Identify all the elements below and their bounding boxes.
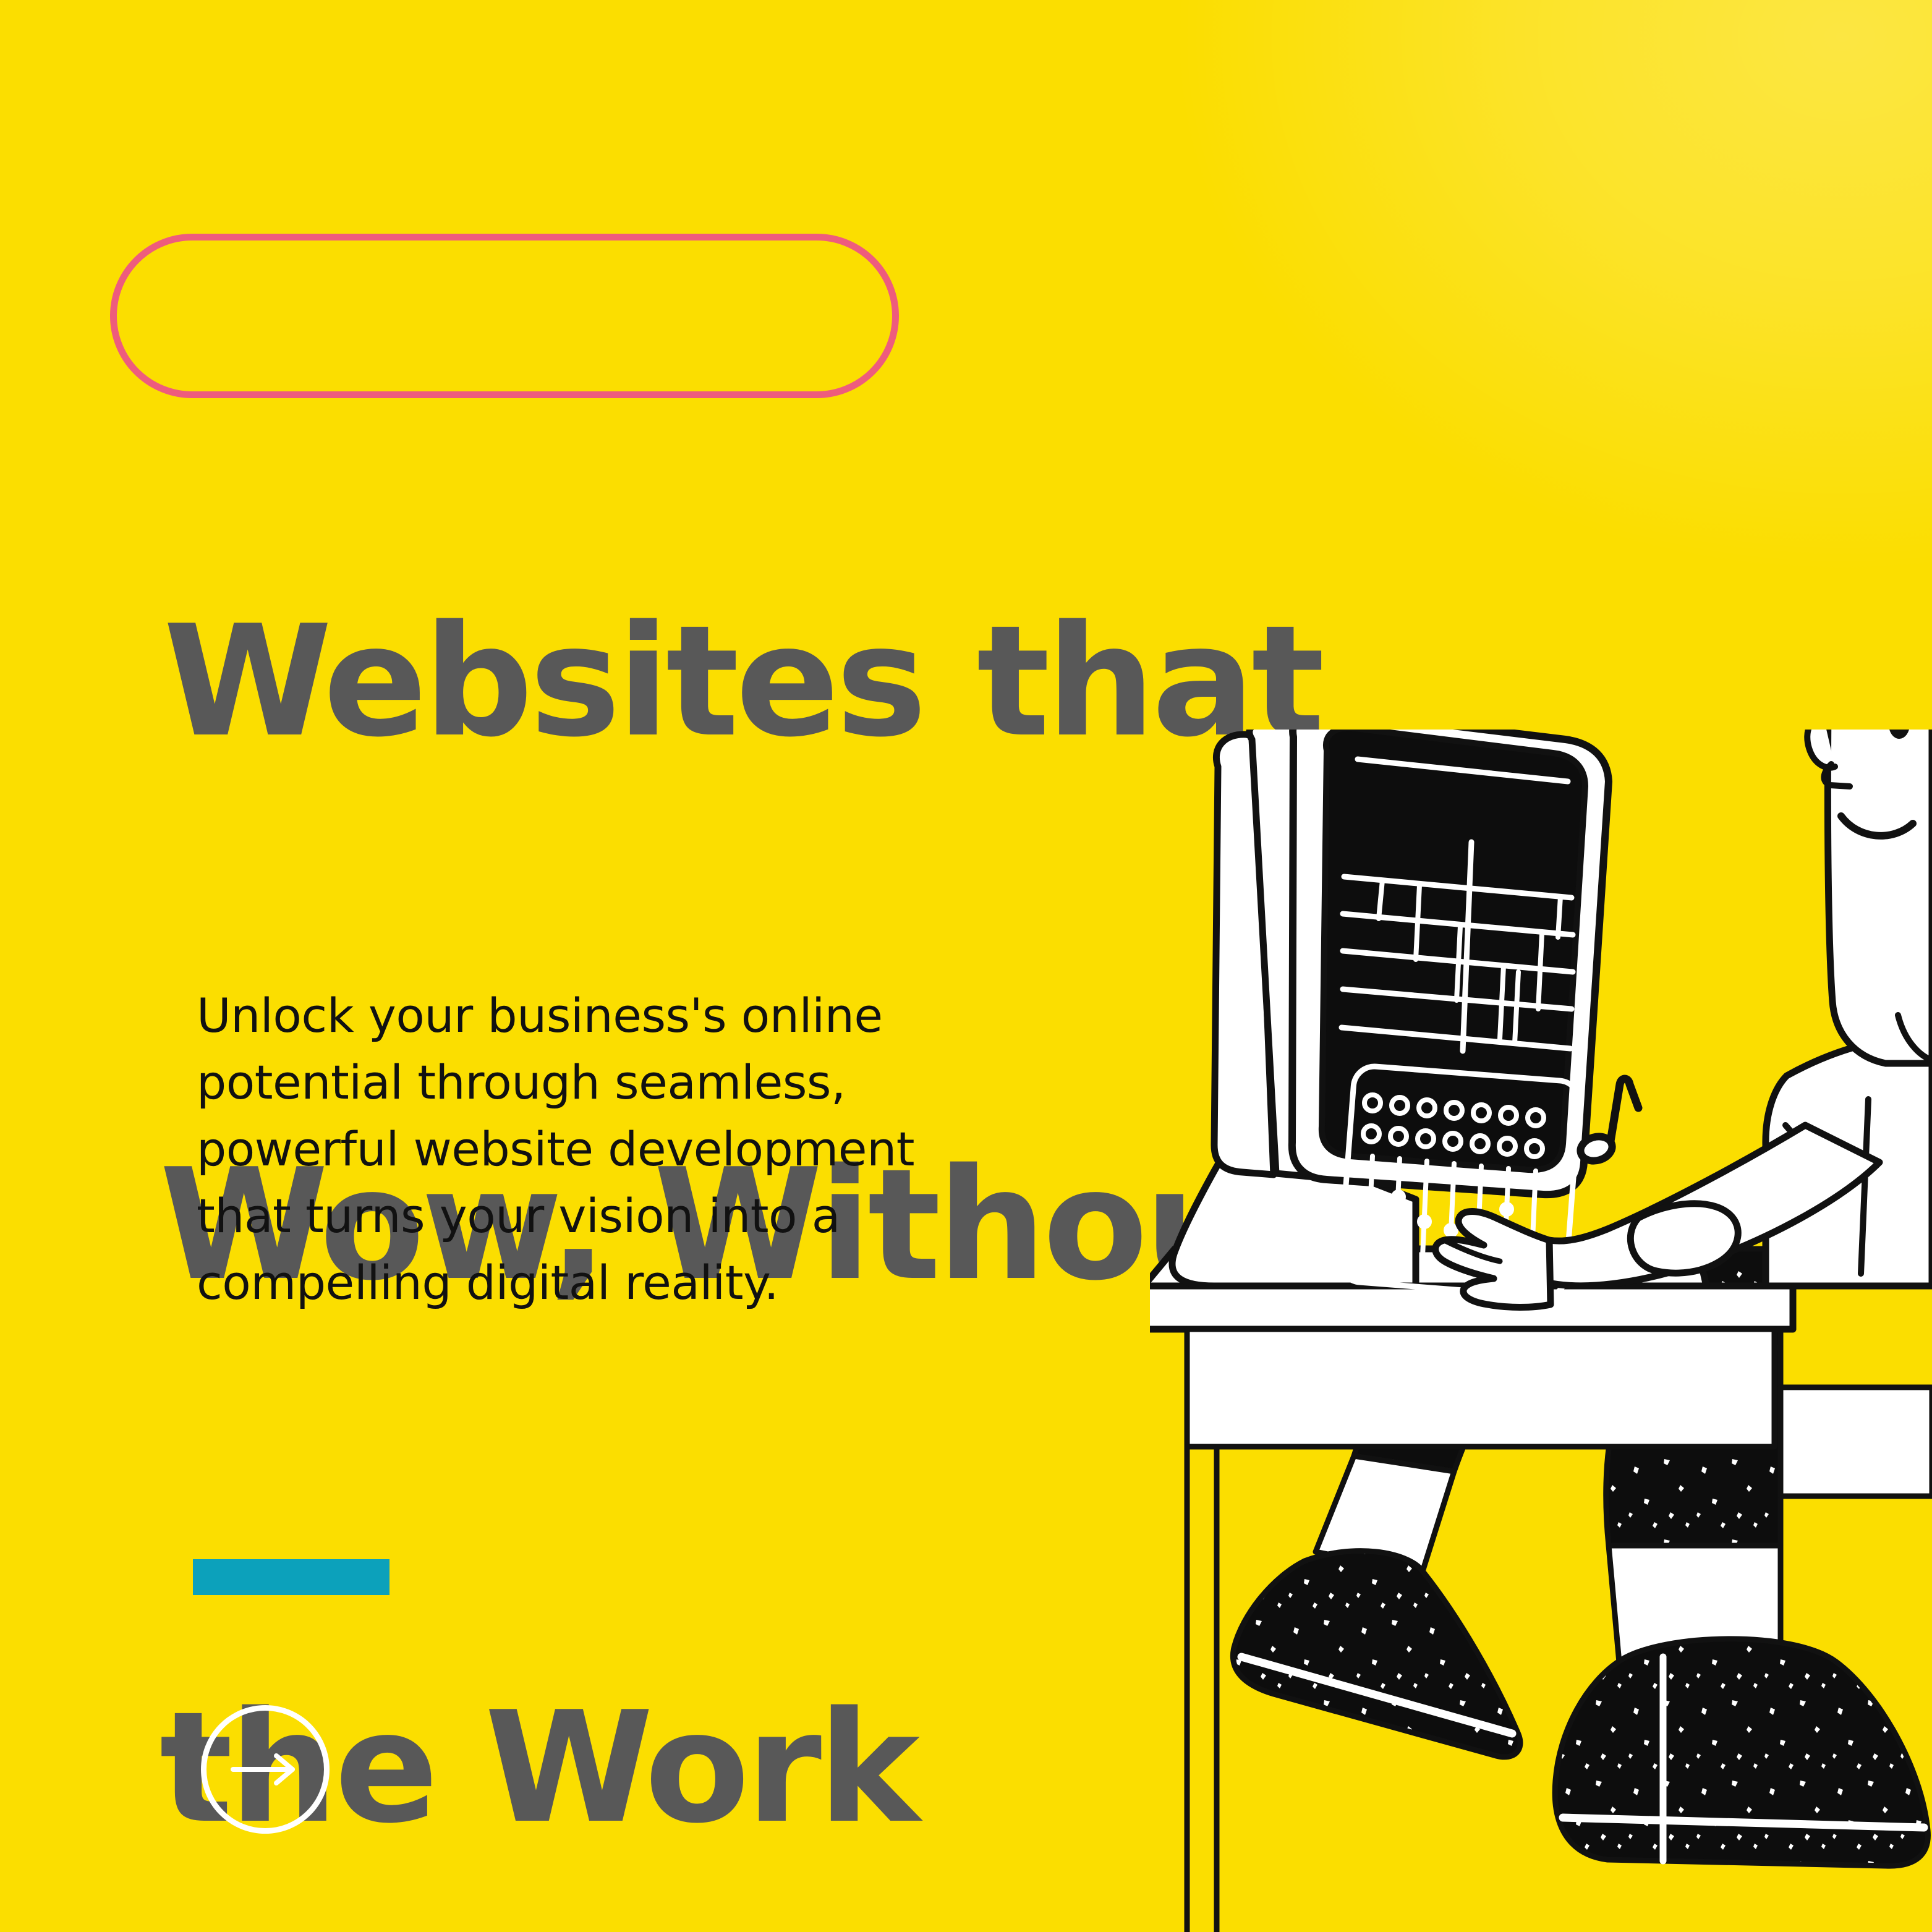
- chair-seat-edge: [1781, 1387, 1932, 1496]
- person-hand-on-mouse: [1630, 1204, 1738, 1273]
- accent-divider-bar: [193, 1559, 389, 1595]
- poster-canvas: Websites that Wow, Without the Work Unlo…: [0, 0, 1932, 1932]
- person-shoe-back: [1233, 1551, 1520, 1757]
- hero-illustration: [1150, 730, 1932, 1932]
- body-paragraph: Unlock your business's online potential …: [197, 982, 1000, 1316]
- person-head: [1807, 730, 1932, 1063]
- headline-highlight-word: Websites: [160, 592, 927, 773]
- monitor: [1172, 730, 1609, 1298]
- person-shoe-front: [1555, 1639, 1928, 1866]
- arrow-right-icon: [228, 1751, 302, 1788]
- next-arrow-button[interactable]: [201, 1705, 330, 1834]
